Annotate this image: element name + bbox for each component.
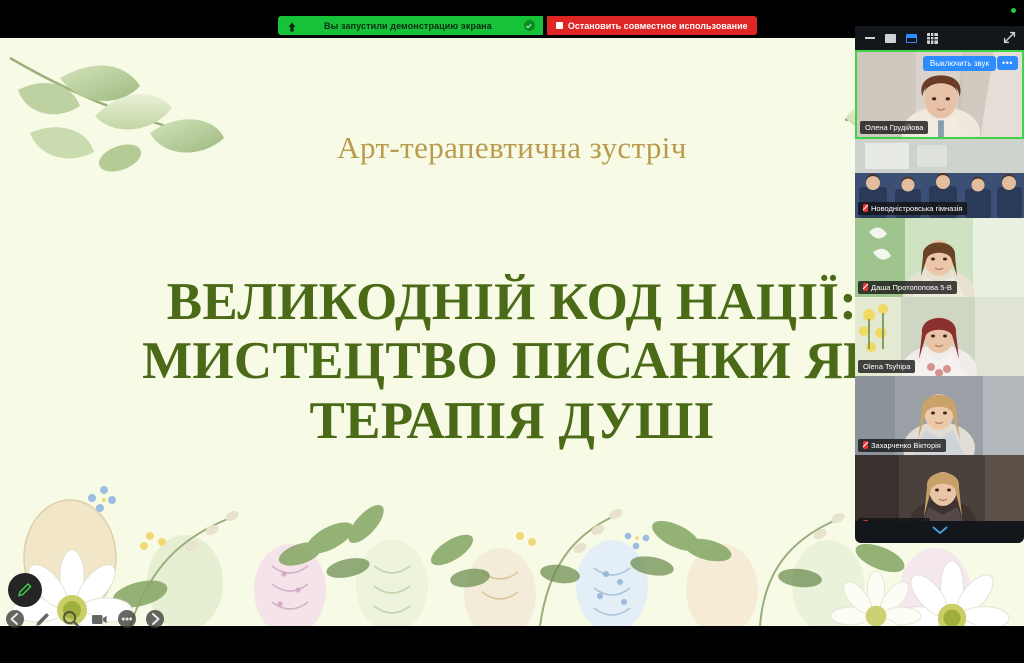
expand-button[interactable] bbox=[1003, 31, 1016, 46]
check-circle-icon bbox=[524, 20, 535, 31]
participant-name-tag: Olena Tsyhipa bbox=[858, 360, 915, 374]
minimize-icon bbox=[865, 37, 875, 39]
pen-icon bbox=[16, 581, 34, 599]
participant-more-button[interactable]: ••• bbox=[997, 56, 1018, 70]
participant-tile[interactable]: Новодністровська гімназія bbox=[855, 139, 1024, 218]
participant-name: Захарченко Вікторія bbox=[871, 441, 941, 450]
gallery-view-button[interactable] bbox=[926, 32, 939, 45]
participant-name: Новодністровська гімназія bbox=[871, 204, 962, 213]
participant-tile[interactable]: Olena Tsyhipa bbox=[855, 297, 1024, 376]
screen-root: Арт-терапевтична зустріч ВЕЛИКОДНІЙ КОД … bbox=[0, 0, 1024, 663]
participant-tiles: Выключить звук ••• Олена Грудійова bbox=[855, 50, 1024, 534]
minimize-button[interactable] bbox=[863, 32, 876, 45]
stop-sharing-button[interactable]: Остановить совместное использование bbox=[547, 16, 757, 35]
participant-name-tag: Даша Протопопова 5-В bbox=[858, 281, 957, 295]
chevron-down-icon bbox=[932, 526, 948, 538]
gallery-view-icon bbox=[927, 33, 938, 44]
more-options-button[interactable] bbox=[116, 608, 138, 630]
presenter-toolbar bbox=[4, 608, 166, 630]
annotation-pen-badge[interactable] bbox=[8, 573, 42, 607]
zoom-in-button[interactable] bbox=[60, 608, 82, 630]
participant-name-tag: Новодністровська гімназія bbox=[858, 202, 967, 216]
mute-audio-button[interactable]: Выключить звук bbox=[923, 56, 996, 71]
recording-indicator bbox=[1011, 8, 1016, 13]
screen-share-icon bbox=[286, 20, 298, 32]
next-slide-button[interactable] bbox=[144, 608, 166, 630]
mic-muted-icon bbox=[863, 441, 868, 449]
participant-name: Олена Грудійова bbox=[865, 123, 923, 132]
scroll-down-control[interactable] bbox=[855, 521, 1024, 543]
screen-share-toolbar: Вы запустили демонстрацию экрана Останов… bbox=[278, 16, 757, 35]
mic-muted-icon bbox=[863, 204, 868, 212]
previous-slide-button[interactable] bbox=[4, 608, 26, 630]
stop-sharing-label: Остановить совместное использование bbox=[568, 21, 748, 31]
participant-name-tag: Захарченко Вікторія bbox=[858, 439, 946, 453]
minimal-view-button[interactable] bbox=[884, 32, 897, 45]
video-conference-panel: Выключить звук ••• Олена Грудійова bbox=[855, 0, 1024, 543]
video-panel-header bbox=[855, 26, 1024, 50]
mic-muted-icon bbox=[863, 283, 868, 291]
annotation-pen-button[interactable] bbox=[32, 608, 54, 630]
active-speaker-tile[interactable]: Выключить звук ••• Олена Грудійова bbox=[855, 50, 1024, 139]
speaker-view-icon bbox=[906, 34, 917, 43]
participant-tile[interactable]: Захарченко Вікторія bbox=[855, 376, 1024, 455]
participant-name: Olena Tsyhipa bbox=[863, 362, 910, 371]
presenter-view-button[interactable] bbox=[88, 608, 110, 630]
screen-share-status: Вы запустили демонстрацию экрана bbox=[278, 16, 543, 35]
speaker-view-button[interactable] bbox=[905, 32, 918, 45]
participant-name: Даша Протопопова 5-В bbox=[871, 283, 952, 292]
screen-share-status-text: Вы запустили демонстрацию экрана bbox=[304, 21, 518, 31]
participant-name-tag: Олена Грудійова bbox=[860, 121, 928, 135]
expand-arrows-icon bbox=[1003, 31, 1016, 44]
participant-tile[interactable]: Даша Протопопова 5-В bbox=[855, 218, 1024, 297]
single-view-icon bbox=[885, 34, 896, 43]
stop-square-icon bbox=[556, 22, 563, 29]
